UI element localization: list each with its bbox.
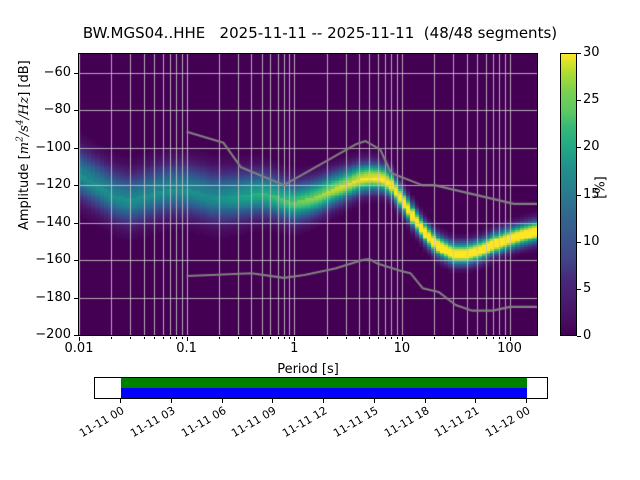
- x-axis-minor-tick-mark: [170, 337, 171, 339]
- x-axis-minor-tick-mark: [130, 337, 131, 339]
- x-axis-minor-tick-mark: [378, 337, 379, 339]
- x-axis-minor-tick-mark: [278, 337, 279, 339]
- colorbar-tick-label: 15: [583, 188, 600, 201]
- x-axis-tick-mark: [294, 337, 295, 341]
- y-axis-tick-mark: [74, 223, 78, 224]
- colorbar-tick-mark: [577, 53, 581, 54]
- y-axis-tick-label: −200: [0, 328, 71, 341]
- timeline-tick-label: 11-11 18: [376, 404, 431, 443]
- x-axis-tick-label: 0.1: [147, 341, 227, 356]
- colorbar-tick-label: 20: [583, 140, 600, 153]
- x-axis-minor-tick-mark: [284, 337, 285, 339]
- colorbar-tick-label: 25: [583, 93, 600, 106]
- y-axis-tick-label: −80: [0, 103, 71, 116]
- y-axis-tick-mark: [74, 110, 78, 111]
- x-axis-minor-tick-mark: [163, 337, 164, 339]
- colorbar-tick-label: 30: [583, 46, 600, 59]
- timeline-data-bar: [121, 378, 527, 388]
- x-axis-minor-tick-mark: [262, 337, 263, 339]
- colorbar-tick-mark: [577, 147, 581, 148]
- colorbar-tick-label: 10: [583, 235, 600, 248]
- x-axis-minor-tick-mark: [176, 337, 177, 339]
- x-axis-minor-tick-mark: [486, 337, 487, 339]
- x-axis-tick-mark: [187, 337, 188, 341]
- x-axis-minor-tick-mark: [111, 337, 112, 339]
- x-axis-minor-tick-mark: [391, 337, 392, 339]
- colorbar-tick-mark: [577, 242, 581, 243]
- x-axis-minor-tick-mark: [397, 337, 398, 339]
- y-axis-tick-mark: [74, 298, 78, 299]
- y-axis-tick-mark: [74, 260, 78, 261]
- x-axis-minor-tick-mark: [499, 337, 500, 339]
- x-axis-minor-tick-mark: [493, 337, 494, 339]
- y-axis-tick-label: −160: [0, 253, 71, 266]
- x-axis-minor-tick-mark: [182, 337, 183, 339]
- x-axis-tick-mark: [402, 337, 403, 341]
- x-axis-tick-mark: [79, 337, 80, 341]
- timeline-tick-mark: [425, 399, 426, 403]
- timeline-tick-label: 11-11 15: [325, 404, 380, 443]
- y-axis-tick-label: −180: [0, 291, 71, 304]
- y-axis-tick-mark: [74, 73, 78, 74]
- peterson-noise-model-curves: [79, 54, 537, 335]
- x-axis-minor-tick-mark: [346, 337, 347, 339]
- timeline-tick-label: 11-11 12: [275, 404, 330, 443]
- x-axis-tick-label: 0.01: [39, 341, 119, 356]
- timeline-psd-bar: [121, 388, 527, 398]
- timeline-tick-mark: [171, 399, 172, 403]
- timeline-tick-mark: [272, 399, 273, 403]
- colorbar-tick-mark: [577, 100, 581, 101]
- x-axis-minor-tick-mark: [144, 337, 145, 339]
- y-axis-tick-label: −120: [0, 178, 71, 191]
- x-axis-minor-tick-mark: [359, 337, 360, 339]
- timeline-tick-mark: [323, 399, 324, 403]
- x-axis-minor-tick-mark: [369, 337, 370, 339]
- colorbar-tick-mark: [577, 336, 581, 337]
- x-axis-minor-tick-mark: [238, 337, 239, 339]
- y-axis-tick-mark: [74, 148, 78, 149]
- x-axis-minor-tick-mark: [270, 337, 271, 339]
- x-axis-tick-mark: [510, 337, 511, 341]
- y-axis-tick-label: −140: [0, 216, 71, 229]
- y-axis-tick-mark: [74, 335, 78, 336]
- x-axis-minor-tick-mark: [467, 337, 468, 339]
- x-axis-minor-tick-mark: [477, 337, 478, 339]
- timeline-tick-label: 11-11 06: [173, 404, 228, 443]
- x-axis-minor-tick-mark: [219, 337, 220, 339]
- timeline-tick-mark: [526, 399, 527, 403]
- timeline-box: [94, 377, 548, 399]
- x-axis-minor-tick-mark: [154, 337, 155, 339]
- y-axis-tick-label: −100: [0, 141, 71, 154]
- ppsd-plot-area[interactable]: [78, 53, 538, 336]
- timeline-tick-label: 11-12 00: [478, 404, 533, 443]
- x-axis-tick-label: 1: [254, 341, 334, 356]
- timeline-tick-label: 11-11 03: [122, 404, 177, 443]
- timeline-tick-mark: [374, 399, 375, 403]
- ppsd-figure: BW.MGS04..HHE 2025-11-11 -- 2025-11-11 (…: [0, 0, 640, 480]
- timeline-tick-mark: [120, 399, 121, 403]
- x-axis-label: Period [s]: [78, 362, 538, 377]
- x-axis-minor-tick-mark: [385, 337, 386, 339]
- y-axis-tick-mark: [74, 185, 78, 186]
- colorbar-tick-label: 5: [583, 282, 591, 295]
- x-axis-minor-tick-mark: [327, 337, 328, 339]
- timeline-tick-mark: [222, 399, 223, 403]
- x-axis-minor-tick-mark: [251, 337, 252, 339]
- x-axis-tick-label: 10: [362, 341, 442, 356]
- timeline-tick-label: 11-11 00: [72, 404, 127, 443]
- colorbar-tick-mark: [577, 195, 581, 196]
- colorbar-tick-mark: [577, 289, 581, 290]
- x-axis-minor-tick-mark: [453, 337, 454, 339]
- x-axis-minor-tick-mark: [434, 337, 435, 339]
- timeline-tick-mark: [475, 399, 476, 403]
- timeline-tick-label: 11-11 21: [427, 404, 482, 443]
- x-axis-minor-tick-mark: [289, 337, 290, 339]
- timeline-tick-label: 11-11 09: [224, 404, 279, 443]
- x-axis-tick-label: 100: [470, 341, 550, 356]
- page-title: BW.MGS04..HHE 2025-11-11 -- 2025-11-11 (…: [0, 24, 640, 42]
- colorbar: [560, 53, 577, 336]
- colorbar-tick-label: 0: [583, 329, 591, 342]
- x-axis-minor-tick-mark: [505, 337, 506, 339]
- y-axis-tick-label: −60: [0, 66, 71, 79]
